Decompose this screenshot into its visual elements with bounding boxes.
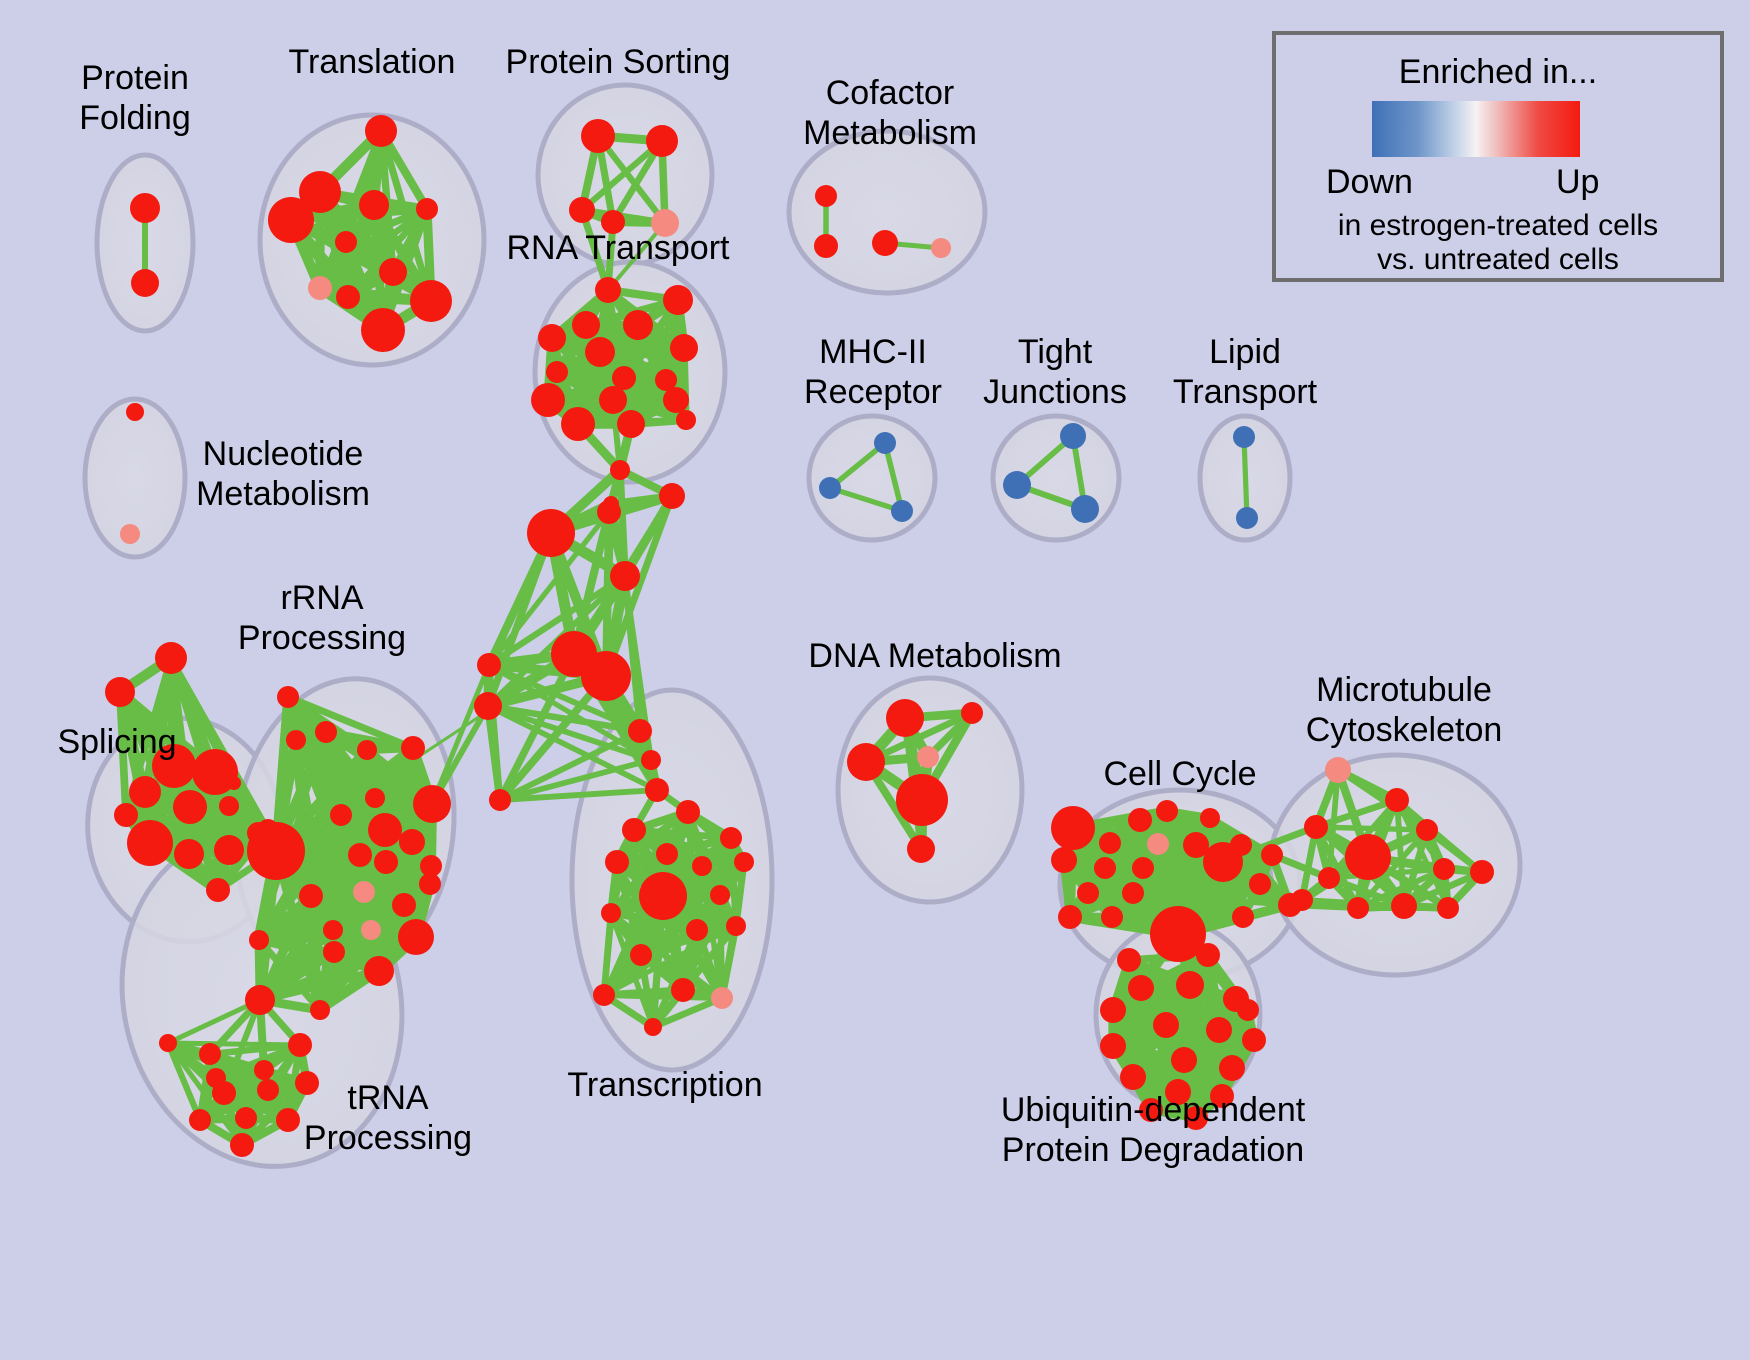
network-node[interactable] bbox=[585, 337, 615, 367]
network-node[interactable] bbox=[416, 198, 438, 220]
network-node[interactable] bbox=[726, 916, 746, 936]
network-node[interactable] bbox=[1071, 495, 1099, 523]
network-node[interactable] bbox=[364, 956, 394, 986]
network-node[interactable] bbox=[1128, 808, 1152, 832]
network-node[interactable] bbox=[593, 984, 615, 1006]
network-node[interactable] bbox=[1437, 897, 1459, 919]
network-node[interactable] bbox=[336, 285, 360, 309]
network-node[interactable] bbox=[353, 881, 375, 903]
network-node[interactable] bbox=[1261, 844, 1283, 866]
network-node[interactable] bbox=[656, 843, 678, 865]
network-node[interactable] bbox=[1165, 1079, 1191, 1105]
network-node[interactable] bbox=[1171, 1047, 1197, 1073]
network-node[interactable] bbox=[365, 788, 385, 808]
network-node[interactable] bbox=[392, 893, 416, 917]
network-node[interactable] bbox=[874, 432, 896, 454]
network-node[interactable] bbox=[206, 878, 230, 902]
network-node[interactable] bbox=[605, 850, 629, 874]
network-node[interactable] bbox=[288, 1033, 312, 1057]
network-node[interactable] bbox=[286, 730, 306, 750]
network-node[interactable] bbox=[601, 903, 621, 923]
network-node[interactable] bbox=[686, 919, 708, 941]
network-node[interactable] bbox=[710, 885, 730, 905]
network-node[interactable] bbox=[1094, 857, 1116, 879]
network-node[interactable] bbox=[105, 677, 135, 707]
network-node[interactable] bbox=[1128, 975, 1154, 1001]
legend-title: Enriched in... bbox=[1276, 53, 1720, 92]
network-node[interactable] bbox=[1416, 819, 1438, 841]
network-node[interactable] bbox=[308, 276, 332, 300]
network-node[interactable] bbox=[323, 920, 343, 940]
network-node[interactable] bbox=[1147, 833, 1169, 855]
network-node[interactable] bbox=[961, 702, 983, 724]
network-node[interactable] bbox=[155, 642, 187, 674]
network-node[interactable] bbox=[931, 238, 951, 258]
network-node[interactable] bbox=[245, 985, 275, 1015]
network-node[interactable] bbox=[379, 258, 407, 286]
legend-caption-line1: in estrogen-treated cells bbox=[1276, 209, 1720, 243]
network-node[interactable] bbox=[1203, 842, 1243, 882]
network-node[interactable] bbox=[129, 776, 161, 808]
network-node[interactable] bbox=[639, 872, 687, 920]
network-node[interactable] bbox=[401, 736, 425, 760]
network-node[interactable] bbox=[1176, 971, 1204, 999]
network-node[interactable] bbox=[230, 1133, 254, 1157]
network-node[interactable] bbox=[531, 383, 565, 417]
network-node[interactable] bbox=[1385, 788, 1409, 812]
network-node[interactable] bbox=[130, 193, 160, 223]
network-node[interactable] bbox=[120, 524, 140, 544]
network-node[interactable] bbox=[413, 785, 451, 823]
legend-down-label: Down bbox=[1326, 163, 1413, 202]
network-node[interactable] bbox=[310, 1000, 330, 1020]
network-node[interactable] bbox=[1347, 897, 1369, 919]
network-node[interactable] bbox=[361, 308, 405, 352]
network-node[interactable] bbox=[1249, 873, 1271, 895]
network-node[interactable] bbox=[315, 721, 337, 743]
network-node[interactable] bbox=[152, 744, 196, 788]
network-node[interactable] bbox=[599, 386, 627, 414]
network-node[interactable] bbox=[131, 269, 159, 297]
network-node[interactable] bbox=[891, 500, 913, 522]
network-node[interactable] bbox=[173, 790, 207, 824]
network-node[interactable] bbox=[603, 496, 619, 512]
network-node[interactable] bbox=[477, 653, 501, 677]
network-node[interactable] bbox=[645, 778, 669, 802]
network-node[interactable] bbox=[474, 692, 502, 720]
network-node[interactable] bbox=[623, 310, 653, 340]
network-node[interactable] bbox=[644, 1018, 662, 1036]
network-node[interactable] bbox=[235, 1107, 257, 1129]
network-node[interactable] bbox=[1433, 858, 1455, 880]
network-node[interactable] bbox=[1318, 867, 1340, 889]
network-node[interactable] bbox=[1101, 906, 1123, 928]
network-node[interactable] bbox=[663, 387, 689, 413]
network-node[interactable] bbox=[1196, 943, 1220, 967]
network-node[interactable] bbox=[734, 852, 754, 872]
network-node[interactable] bbox=[676, 800, 700, 824]
network-node[interactable] bbox=[1236, 507, 1258, 529]
network-node[interactable] bbox=[1117, 948, 1141, 972]
network-node[interactable] bbox=[622, 818, 646, 842]
network-edge bbox=[1316, 827, 1427, 830]
network-node[interactable] bbox=[651, 209, 679, 237]
network-node[interactable] bbox=[1304, 815, 1328, 839]
network-node[interactable] bbox=[1153, 1012, 1179, 1038]
network-node[interactable] bbox=[617, 410, 645, 438]
network-node[interactable] bbox=[247, 822, 305, 880]
network-node[interactable] bbox=[410, 280, 452, 322]
network-node[interactable] bbox=[1210, 1084, 1234, 1108]
network-node[interactable] bbox=[896, 774, 948, 826]
network-node[interactable] bbox=[1051, 847, 1077, 873]
network-node[interactable] bbox=[295, 1071, 319, 1095]
network-figure: Protein FoldingTranslationProtein Sortin… bbox=[0, 0, 1750, 1360]
legend-up-label: Up bbox=[1556, 163, 1599, 202]
network-node[interactable] bbox=[398, 919, 434, 955]
legend-color-bar bbox=[1372, 101, 1580, 157]
cluster-ellipse-cofactor bbox=[789, 131, 985, 293]
network-node[interactable] bbox=[659, 483, 685, 509]
network-node[interactable] bbox=[335, 231, 357, 253]
network-node[interactable] bbox=[330, 804, 352, 826]
legend-box: Enriched in... Down Up in estrogen-treat… bbox=[1272, 31, 1724, 282]
network-node[interactable] bbox=[374, 850, 398, 874]
network-node[interactable] bbox=[1242, 1028, 1266, 1052]
network-node[interactable] bbox=[546, 361, 568, 383]
network-node[interactable] bbox=[610, 460, 630, 480]
network-node[interactable] bbox=[1233, 426, 1255, 448]
network-node[interactable] bbox=[126, 403, 144, 421]
network-node[interactable] bbox=[1051, 806, 1095, 850]
network-node[interactable] bbox=[127, 820, 173, 866]
network-node[interactable] bbox=[671, 978, 695, 1002]
network-node[interactable] bbox=[711, 987, 733, 1009]
network-node[interactable] bbox=[847, 743, 885, 781]
network-node[interactable] bbox=[628, 719, 652, 743]
network-node[interactable] bbox=[676, 410, 696, 430]
network-node[interactable] bbox=[419, 873, 441, 895]
network-node[interactable] bbox=[572, 311, 600, 339]
network-node[interactable] bbox=[527, 509, 575, 557]
network-node[interactable] bbox=[249, 930, 269, 950]
network-node[interactable] bbox=[663, 285, 693, 315]
network-node[interactable] bbox=[1200, 808, 1220, 828]
network-node[interactable] bbox=[819, 477, 841, 499]
network-node[interactable] bbox=[1470, 860, 1494, 884]
network-node[interactable] bbox=[610, 561, 640, 591]
network-node[interactable] bbox=[692, 856, 712, 876]
network-node[interactable] bbox=[1184, 1106, 1208, 1130]
network-node[interactable] bbox=[206, 1068, 226, 1088]
network-node[interactable] bbox=[581, 651, 631, 701]
network-node[interactable] bbox=[199, 1043, 221, 1065]
network-node[interactable] bbox=[538, 324, 566, 352]
network-node[interactable] bbox=[630, 944, 652, 966]
network-node[interactable] bbox=[917, 746, 939, 768]
network-node[interactable] bbox=[323, 941, 345, 963]
network-node[interactable] bbox=[1237, 999, 1259, 1021]
network-node[interactable] bbox=[814, 234, 838, 258]
network-node[interactable] bbox=[1325, 757, 1351, 783]
network-node[interactable] bbox=[720, 827, 742, 849]
network-node[interactable] bbox=[907, 835, 935, 863]
network-node[interactable] bbox=[670, 334, 698, 362]
network-node[interactable] bbox=[192, 749, 238, 795]
network-node[interactable] bbox=[219, 796, 239, 816]
network-node[interactable] bbox=[276, 1108, 300, 1132]
network-edge bbox=[1244, 437, 1247, 518]
legend-caption-line2: vs. untreated cells bbox=[1276, 243, 1720, 277]
network-node[interactable] bbox=[361, 920, 381, 940]
network-node[interactable] bbox=[257, 1079, 279, 1101]
network-node[interactable] bbox=[1060, 423, 1086, 449]
network-node[interactable] bbox=[174, 839, 204, 869]
network-node[interactable] bbox=[641, 750, 661, 770]
network-node[interactable] bbox=[1139, 1098, 1163, 1122]
network-node[interactable] bbox=[872, 230, 898, 256]
network-node[interactable] bbox=[357, 740, 377, 760]
network-node[interactable] bbox=[815, 185, 837, 207]
network-node[interactable] bbox=[1391, 893, 1417, 919]
network-node[interactable] bbox=[1291, 889, 1313, 911]
network-node[interactable] bbox=[1120, 1064, 1146, 1090]
network-node[interactable] bbox=[299, 884, 323, 908]
network-node[interactable] bbox=[1100, 997, 1126, 1023]
network-node[interactable] bbox=[595, 277, 621, 303]
network-node[interactable] bbox=[489, 789, 511, 811]
network-node[interactable] bbox=[277, 686, 299, 708]
network-node[interactable] bbox=[581, 119, 615, 153]
network-node[interactable] bbox=[365, 115, 397, 147]
network-node[interactable] bbox=[189, 1109, 211, 1131]
network-node[interactable] bbox=[114, 803, 138, 827]
network-node[interactable] bbox=[359, 190, 389, 220]
network-node[interactable] bbox=[1206, 1017, 1232, 1043]
network-node[interactable] bbox=[1232, 906, 1254, 928]
network-node[interactable] bbox=[1003, 471, 1031, 499]
network-node[interactable] bbox=[1156, 800, 1178, 822]
network-node[interactable] bbox=[1099, 832, 1121, 854]
network-node[interactable] bbox=[254, 1060, 274, 1080]
network-node[interactable] bbox=[569, 197, 595, 223]
network-node[interactable] bbox=[348, 843, 372, 867]
network-node[interactable] bbox=[601, 210, 625, 234]
network-node[interactable] bbox=[1100, 1033, 1126, 1059]
network-node[interactable] bbox=[399, 829, 425, 855]
network-node[interactable] bbox=[561, 407, 595, 441]
network-node[interactable] bbox=[214, 835, 244, 865]
network-node[interactable] bbox=[159, 1034, 177, 1052]
network-node[interactable] bbox=[1077, 882, 1099, 904]
network-node[interactable] bbox=[646, 125, 678, 157]
network-node[interactable] bbox=[1058, 905, 1082, 929]
network-node[interactable] bbox=[886, 699, 924, 737]
network-node[interactable] bbox=[368, 813, 402, 847]
network-node[interactable] bbox=[1345, 834, 1391, 880]
network-node[interactable] bbox=[268, 197, 314, 243]
network-node[interactable] bbox=[1132, 857, 1154, 879]
network-node[interactable] bbox=[1122, 882, 1144, 904]
network-node[interactable] bbox=[1219, 1055, 1245, 1081]
